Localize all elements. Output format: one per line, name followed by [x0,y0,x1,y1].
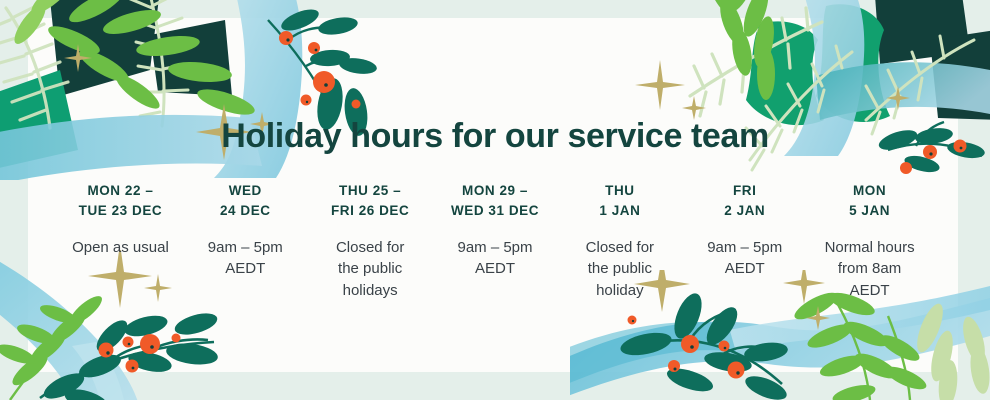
column-hours-value: Closed for the public holidays [336,237,404,302]
column-hours-value: 9am – 5pm AEDT [208,237,283,281]
column-hours-value: 9am – 5pm AEDT [707,237,782,281]
hours-column-mon5jan: MON 5 JAN Normal hours from 8am AEDT [807,181,932,301]
banner-content: Holiday hours for our service team MON 2… [0,0,990,400]
holiday-hours-banner: Holiday hours for our service team MON 2… [0,0,990,400]
hours-column-fri2jan: FRI 2 JAN 9am – 5pm AEDT [682,181,807,280]
column-hours-value: Open as usual [72,237,169,259]
hours-column-mon22-tue23dec: MON 22 – TUE 23 DEC Open as usual [58,181,183,258]
hours-column-thu25-fri26dec: THU 25 – FRI 26 DEC Closed for the publi… [308,181,433,301]
holiday-hours-table: MON 22 – TUE 23 DEC Open as usual WED 24… [30,181,960,301]
column-header-date-range: MON 5 JAN [849,181,890,220]
hours-column-wed24dec: WED 24 DEC 9am – 5pm AEDT [183,181,308,280]
column-hours-value: Closed for the public holiday [586,237,654,302]
column-header-date-range: FRI 2 JAN [724,181,765,220]
column-header-date-range: THU 1 JAN [599,181,640,220]
hours-column-mon29-wed31dec: MON 29 – WED 31 DEC 9am – 5pm AEDT [433,181,558,280]
column-header-date-range: WED 24 DEC [220,181,271,220]
column-header-date-range: MON 29 – WED 31 DEC [451,181,539,220]
column-hours-value: 9am – 5pm AEDT [457,237,532,281]
column-header-date-range: THU 25 – FRI 26 DEC [331,181,409,220]
page-title: Holiday hours for our service team [221,0,769,155]
column-hours-value: Normal hours from 8am AEDT [825,237,915,302]
hours-column-thu1jan: THU 1 JAN Closed for the public holiday [557,181,682,301]
column-header-date-range: MON 22 – TUE 23 DEC [79,181,163,220]
